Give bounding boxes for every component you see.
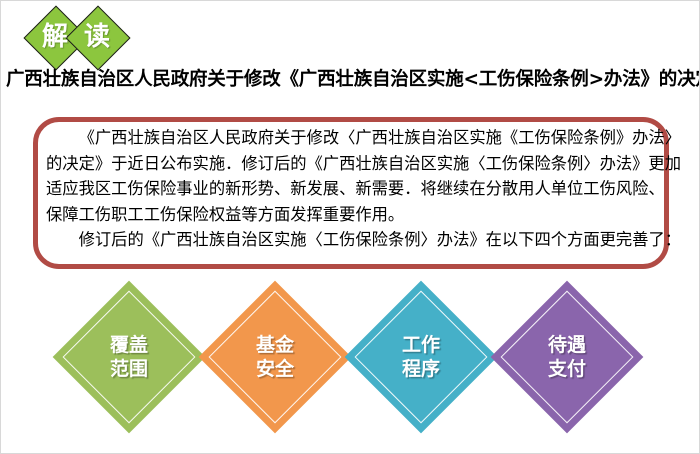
content-body: 《广西壮族自治区人民政府关于修改〈广西壮族自治区实施《工伤保险条例》办法〉 的决… — [46, 125, 660, 253]
diamond-coverage-scope[interactable] — [53, 281, 206, 434]
badge-du-shape — [65, 5, 130, 70]
body-line-3: 适应我区工伤保险事业的新形势、新发展、新需要．将继续在分散用人单位工伤风险、 — [46, 176, 660, 202]
diamond-inner-outline — [355, 291, 488, 424]
diamond-inner-outline — [209, 291, 342, 424]
diamond-work-procedure[interactable] — [345, 281, 498, 434]
page-root: 解 读 广西壮族自治区人民政府关于修改《广西壮族自治区实施<工伤保险条例>办法》… — [0, 0, 700, 454]
body-line-5: 修订后的《广西壮族自治区实施〈工伤保险条例〉办法》在以下四个方面更完善了： — [46, 227, 660, 253]
diamond-chevron-row: 覆盖 范围 基金 安全 工作 程序 待遇 支付 — [1, 293, 700, 453]
header-badge-group: 解 读 — [25, 9, 215, 67]
page-title: 广西壮族自治区人民政府关于修改《广西壮族自治区实施<工伤保险条例>办法》的决定 — [6, 65, 698, 91]
diamond-inner-outline — [501, 291, 634, 424]
diamond-benefit-payment[interactable] — [491, 281, 644, 434]
body-line-4: 保障工伤职工工伤保险权益等方面发挥重要作用。 — [46, 202, 660, 228]
body-line-1: 《广西壮族自治区人民政府关于修改〈广西壮族自治区实施《工伤保险条例》办法〉 — [46, 125, 660, 151]
body-line-2: 的决定》于近日公布实施．修订后的《广西壮族自治区实施〈工伤保险条例〉办法》更加 — [46, 151, 660, 177]
diamond-inner-outline — [63, 291, 196, 424]
diamond-fund-safety[interactable] — [199, 281, 352, 434]
